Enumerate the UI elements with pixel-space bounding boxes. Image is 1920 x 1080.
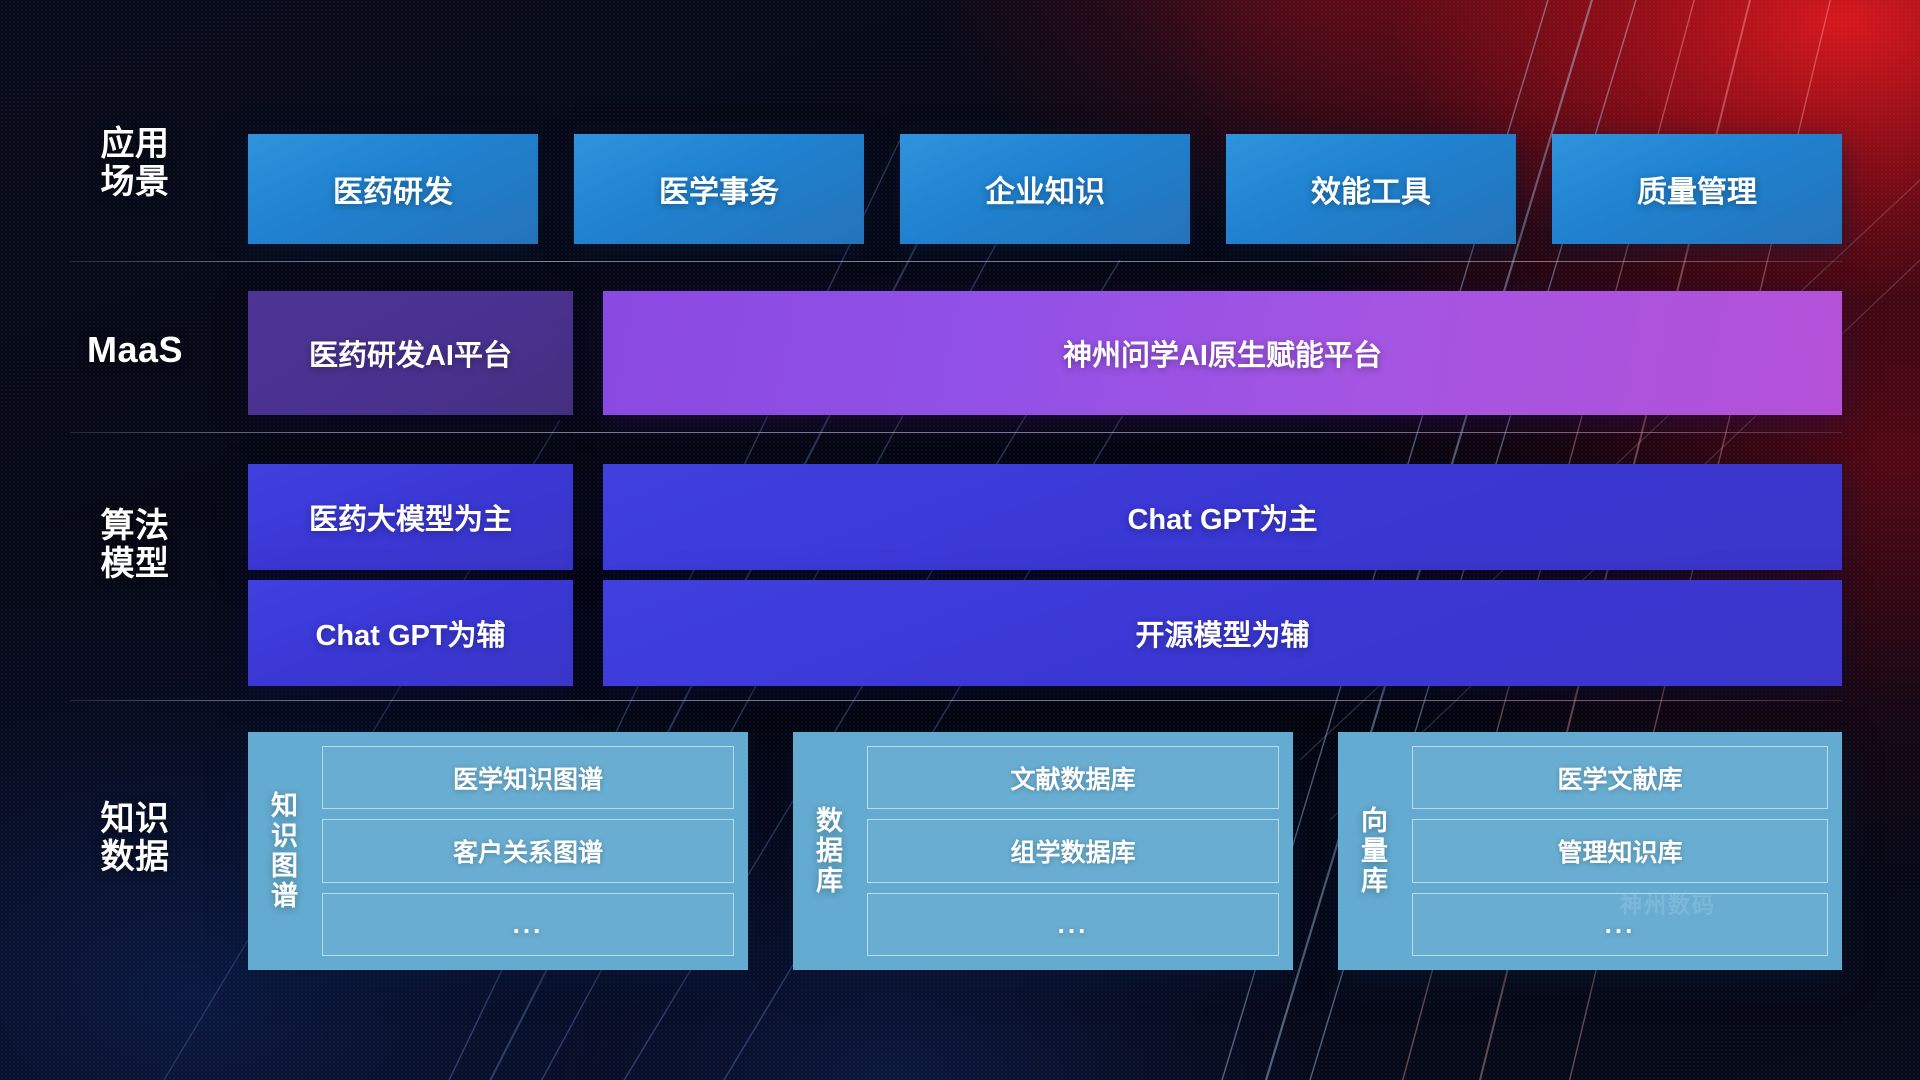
knowledge-panel-database[interactable]: 数据库 文献数据库 组学数据库 ... — [793, 732, 1293, 970]
app-tile-5-label: 质量管理 — [1637, 167, 1757, 211]
app-tile-3-label: 企业知识 — [985, 167, 1105, 211]
row-label-application: 应用 场景 — [70, 125, 200, 201]
knowledge-panel-vector-title: 向量库 — [1338, 746, 1412, 956]
algo-tile-chatgpt-primary-label: Chat GPT为主 — [1127, 496, 1317, 538]
knowledge-item-database-3[interactable]: ... — [867, 893, 1279, 956]
slide-canvas: 应用 场景 MaaS 算法 模型 知识 数据 医药研发 医学事务 企业知识 效能 — [0, 0, 1920, 1080]
knowledge-item-graph-1[interactable]: 医学知识图谱 — [322, 746, 734, 809]
knowledge-panel-graph-items: 医学知识图谱 客户关系图谱 ... — [322, 746, 734, 956]
maas-platform-shenzhou[interactable]: 神州问学AI原生赋能平台 — [603, 291, 1842, 415]
algo-tile-chatgpt-secondary-label: Chat GPT为辅 — [315, 612, 505, 654]
knowledge-panel-database-title-text: 数据库 — [816, 806, 844, 897]
row-label-algorithm-line-1: 算法 — [70, 507, 200, 545]
row-label-knowledge-line-1: 知识 — [70, 800, 200, 838]
app-tile-5[interactable]: 质量管理 — [1552, 134, 1842, 244]
app-tile-2-label: 医学事务 — [659, 167, 779, 211]
maas-platform-medical[interactable]: 医药研发AI平台 — [248, 291, 573, 415]
knowledge-item-graph-3[interactable]: ... — [322, 893, 734, 956]
app-tile-1-label: 医药研发 — [333, 167, 453, 211]
knowledge-panel-vector[interactable]: 向量库 医学文献库 管理知识库 ... — [1338, 732, 1842, 970]
knowledge-item-vector-1[interactable]: 医学文献库 — [1412, 746, 1828, 809]
algo-tile-medical-primary[interactable]: 医药大模型为主 — [248, 464, 573, 570]
knowledge-panel-database-title: 数据库 — [793, 746, 867, 956]
maas-platform-medical-label: 医药研发AI平台 — [309, 332, 512, 374]
row-label-knowledge-line-2: 数据 — [70, 838, 200, 876]
row-label-maas-line-1: MaaS — [70, 330, 200, 370]
knowledge-panel-graph-title-text: 知识图谱 — [271, 791, 299, 912]
row-label-application-line-2: 场景 — [70, 163, 200, 201]
app-tile-2[interactable]: 医学事务 — [574, 134, 864, 244]
algo-tile-medical-primary-label: 医药大模型为主 — [309, 496, 512, 538]
knowledge-item-graph-2[interactable]: 客户关系图谱 — [322, 819, 734, 882]
algo-tile-chatgpt-primary[interactable]: Chat GPT为主 — [603, 464, 1842, 570]
knowledge-panel-vector-items: 医学文献库 管理知识库 ... — [1412, 746, 1828, 956]
app-tile-4[interactable]: 效能工具 — [1226, 134, 1516, 244]
row-label-algorithm: 算法 模型 — [70, 507, 200, 583]
knowledge-item-database-1[interactable]: 文献数据库 — [867, 746, 1279, 809]
app-tile-4-label: 效能工具 — [1311, 167, 1431, 211]
algo-tile-chatgpt-secondary[interactable]: Chat GPT为辅 — [248, 580, 573, 686]
app-tile-1[interactable]: 医药研发 — [248, 134, 538, 244]
knowledge-panel-graph[interactable]: 知识图谱 医学知识图谱 客户关系图谱 ... — [248, 732, 748, 970]
algo-tile-opensource-secondary-label: 开源模型为辅 — [1135, 612, 1309, 654]
maas-platform-shenzhou-label: 神州问学AI原生赋能平台 — [1063, 332, 1382, 374]
algo-tile-opensource-secondary[interactable]: 开源模型为辅 — [603, 580, 1842, 686]
knowledge-panel-database-items: 文献数据库 组学数据库 ... — [867, 746, 1279, 956]
knowledge-panel-vector-title-text: 向量库 — [1361, 806, 1389, 897]
knowledge-panel-graph-title: 知识图谱 — [248, 746, 322, 956]
app-tile-3[interactable]: 企业知识 — [900, 134, 1190, 244]
row-label-algorithm-line-2: 模型 — [70, 545, 200, 583]
knowledge-item-vector-3[interactable]: ... — [1412, 893, 1828, 956]
knowledge-item-database-2[interactable]: 组学数据库 — [867, 819, 1279, 882]
knowledge-item-vector-2[interactable]: 管理知识库 — [1412, 819, 1828, 882]
divider-application-maas — [70, 261, 1842, 262]
divider-algorithm-knowledge — [70, 700, 1842, 701]
row-label-knowledge: 知识 数据 — [70, 800, 200, 876]
divider-maas-algorithm — [70, 432, 1842, 433]
row-label-maas: MaaS — [70, 330, 200, 370]
row-label-application-line-1: 应用 — [70, 125, 200, 163]
